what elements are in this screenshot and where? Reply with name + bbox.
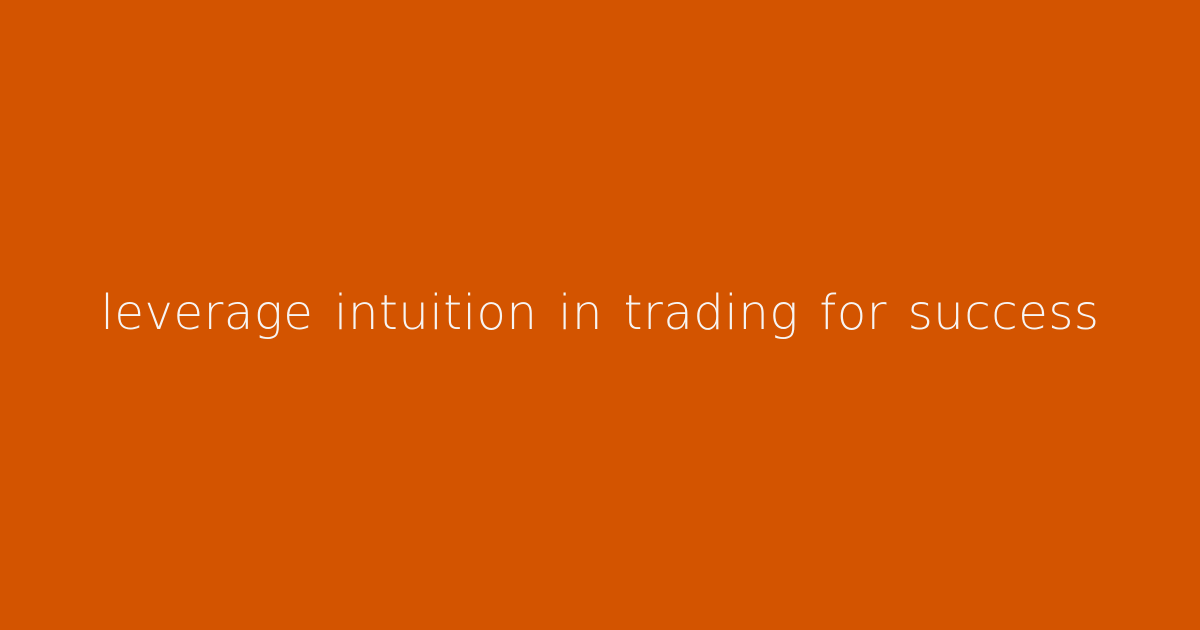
banner-caption-text: leverage intuition in trading for succes… [0, 287, 1200, 341]
placeholder-banner: leverage intuition in trading for succes… [0, 0, 1200, 630]
